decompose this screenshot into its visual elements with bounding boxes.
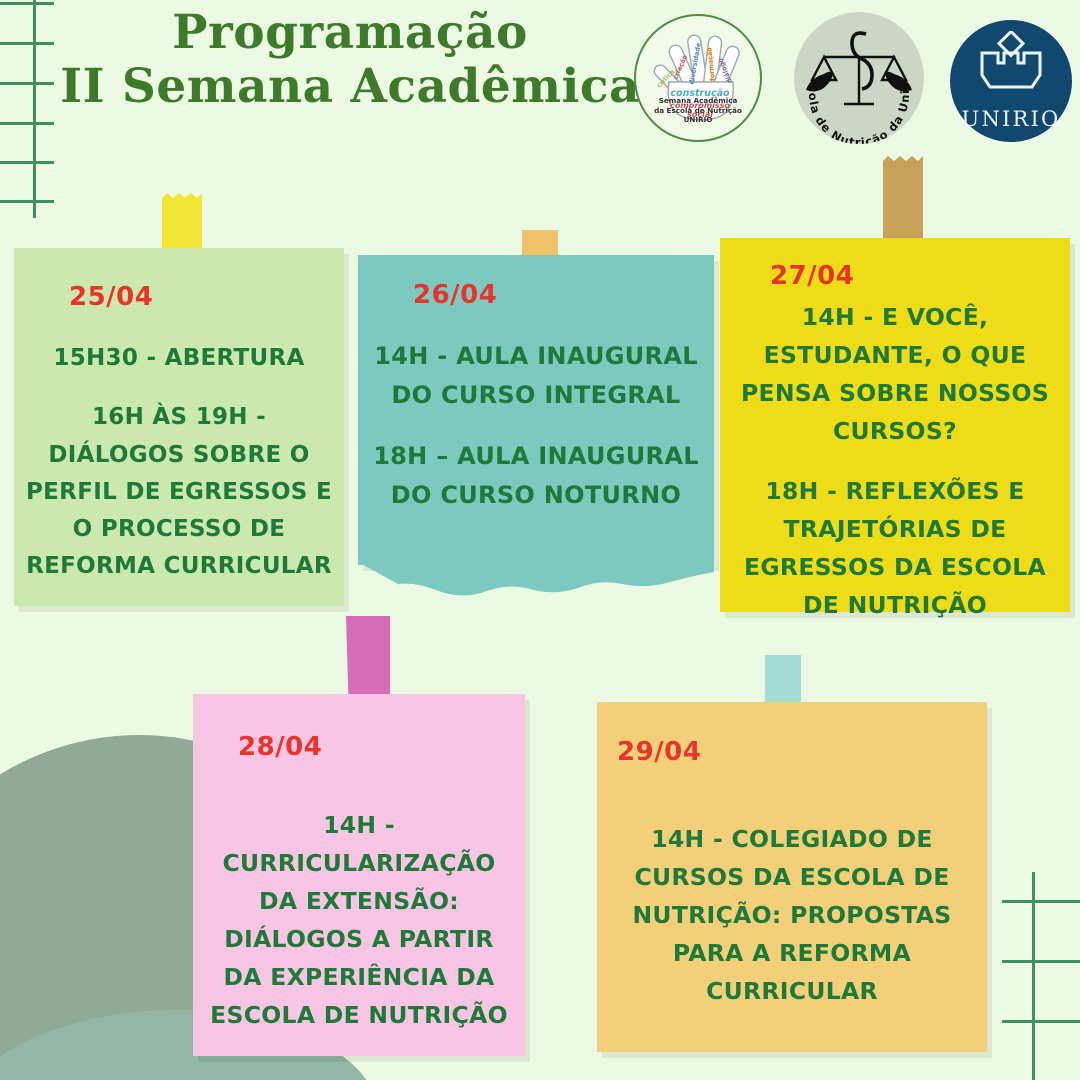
note-date: 29/04 — [617, 737, 701, 767]
hand-logo-caption: Semana Acadêmica da Escola de Nutrição U… — [636, 96, 760, 124]
note-card-28-04[interactable]: 28/04 14H - CURRICULARIZAÇÃO DA EXTENSÃO… — [193, 694, 525, 1056]
unirio-logo: UNIRIO — [950, 20, 1072, 142]
note-body: 14H - E VOCÊ, ESTUDANTE, O QUE PENSA SOB… — [720, 298, 1070, 625]
note-date: 28/04 — [238, 732, 322, 762]
note-card-25-04[interactable]: 25/04 15H30 - ABERTURA 16H ÀS 19H - DIÁL… — [14, 248, 344, 606]
unirio-mark-icon — [974, 31, 1048, 105]
note-block: 16H ÀS 19H - DIÁLOGOS SOBRE O PERFIL DE … — [26, 399, 332, 585]
poster-header: Programação II Semana Acadêmica criação … — [0, 0, 1080, 160]
note-body: 14H - COLEGIADO DE CURSOS DA ESCOLA DE N… — [597, 820, 987, 1010]
title-line-1: Programação — [60, 6, 640, 60]
title-line-2: II Semana Acadêmica — [60, 60, 640, 114]
note-block: 18H – AULA INAUGURAL DO CURSO NOTURNO — [370, 437, 702, 515]
note-card-29-04[interactable]: 29/04 14H - COLEGIADO DE CURSOS DA ESCOL… — [597, 702, 987, 1052]
note-body: 15H30 - ABERTURA 16H ÀS 19H - DIÁLOGOS S… — [14, 340, 344, 586]
hand-logo-caption-line-3: UNIRIO — [636, 115, 760, 124]
scales-caduceus-icon: Escola de Nutrição da Unirio — [794, 12, 924, 144]
note-date: 27/04 — [770, 261, 854, 291]
note-block: 15H30 - ABERTURA — [26, 340, 332, 377]
note-block: 14H - E VOCÊ, ESTUDANTE, O QUE PENSA SOB… — [732, 298, 1058, 450]
escola-de-nutricao-logo: Escola de Nutrição da Unirio — [794, 12, 924, 144]
note-body: 14H - CURRICULARIZAÇÃO DA EXTENSÃO: DIÁL… — [193, 806, 525, 1034]
hand-logo-caption-line-1: Semana Acadêmica — [636, 96, 760, 105]
page-title: Programação II Semana Acadêmica — [60, 6, 640, 113]
note-block: 14H - AULA INAUGURAL DO CURSO INTEGRAL — [370, 337, 702, 415]
torn-edge — [358, 562, 714, 596]
semana-academica-hand-logo: criação diversidade formação diálogo crí… — [634, 14, 762, 142]
note-block: 18H - REFLEXÕES E TRAJETÓRIAS DE EGRESSO… — [732, 472, 1058, 624]
unirio-wordmark: UNIRIO — [962, 107, 1061, 131]
note-block: 14H - CURRICULARIZAÇÃO DA EXTENSÃO: DIÁL… — [205, 806, 513, 1034]
note-block: 14H - COLEGIADO DE CURSOS DA ESCOLA DE N… — [609, 820, 975, 1010]
note-card-26-04[interactable]: 26/04 14H - AULA INAUGURAL DO CURSO INTE… — [358, 255, 714, 565]
note-card-27-04[interactable]: 27/04 14H - E VOCÊ, ESTUDANTE, O QUE PEN… — [720, 238, 1070, 612]
note-date: 25/04 — [69, 282, 153, 312]
note-date: 26/04 — [413, 280, 497, 310]
poster-canvas: Programação II Semana Acadêmica criação … — [0, 0, 1080, 1080]
note-body: 14H - AULA INAUGURAL DO CURSO INTEGRAL 1… — [358, 337, 714, 515]
hand-logo-caption-line-2: da Escola de Nutrição — [636, 106, 760, 115]
